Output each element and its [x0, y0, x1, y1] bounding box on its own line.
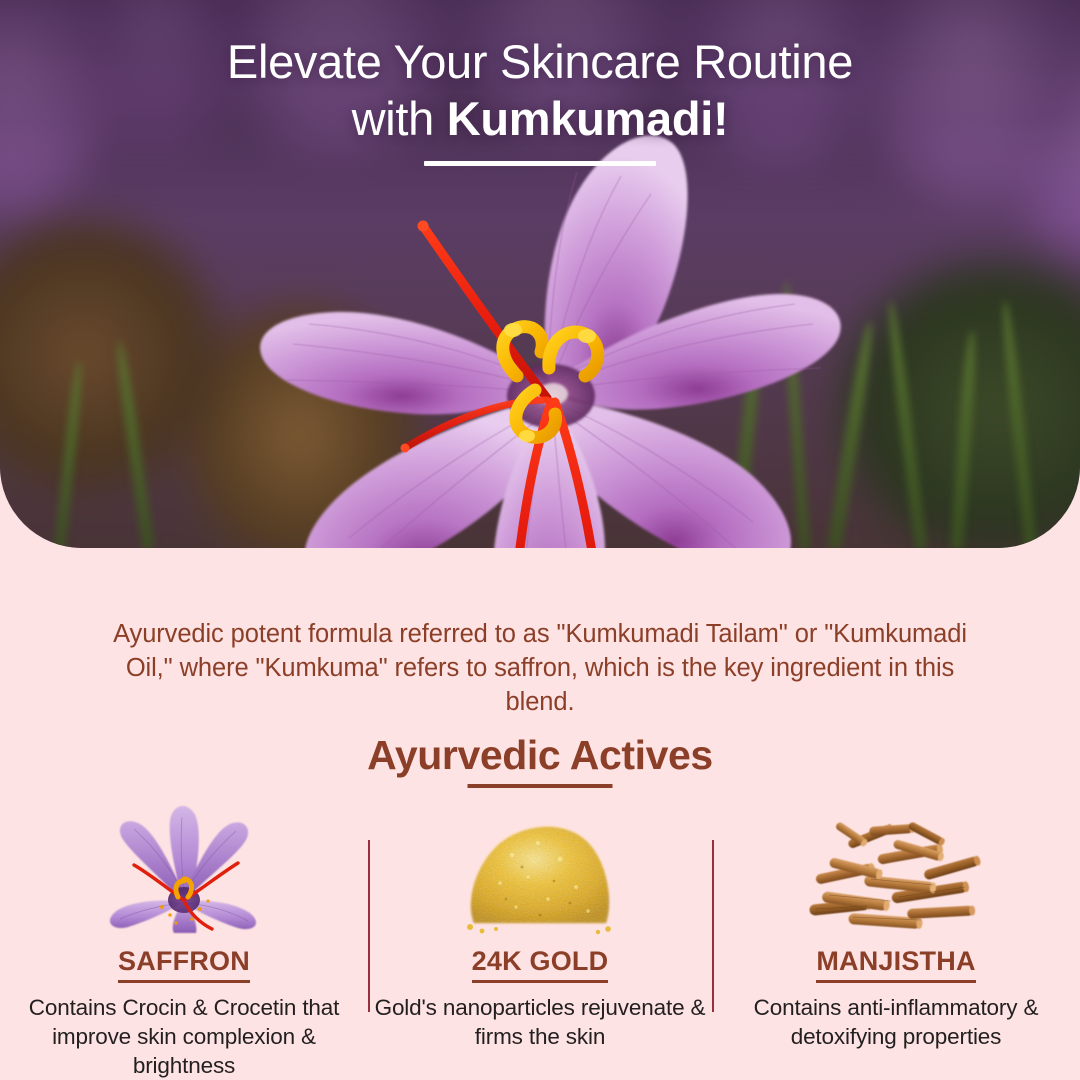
headline-prefix: with [352, 92, 447, 145]
gold-powder-icon [364, 795, 716, 935]
active-name: MANJISTHA [816, 946, 975, 983]
active-description: Contains anti-inflammatory & detoxifying… [720, 993, 1072, 1051]
saffron-flower-icon [8, 795, 360, 935]
active-card-saffron: SAFFRON Contains Crocin & Crocetin that … [8, 795, 360, 1080]
active-card-manjistha: MANJISTHA Contains anti-inflammatory & d… [720, 795, 1072, 1051]
headline-line-1: Elevate Your Skincare Routine [0, 34, 1080, 90]
active-card-gold: 24K GOLD Gold's nanoparticles rejuvenate… [364, 795, 716, 1051]
headline-line-2: with Kumkumadi! [0, 90, 1080, 148]
headline-underline [424, 161, 656, 166]
actives-row: SAFFRON Contains Crocin & Crocetin that … [0, 795, 1080, 1080]
section-title: Ayurvedic Actives [0, 732, 1080, 779]
active-description: Gold's nanoparticles rejuvenate & firms … [364, 993, 716, 1051]
section-title-underline [468, 784, 613, 788]
active-name: 24K GOLD [472, 946, 609, 983]
infographic-page: Elevate Your Skincare Routine with Kumku… [0, 0, 1080, 1080]
active-description: Contains Crocin & Crocetin that improve … [8, 993, 360, 1080]
hero-banner: Elevate Your Skincare Routine with Kumku… [0, 0, 1080, 548]
intro-paragraph: Ayurvedic potent formula referred to as … [105, 617, 975, 719]
saffron-crocus-bloom-image [247, 118, 847, 548]
manjistha-roots-icon [720, 795, 1072, 935]
hero-headline-block: Elevate Your Skincare Routine with Kumku… [0, 34, 1080, 166]
active-name: SAFFRON [118, 946, 250, 983]
headline-brand: Kumkumadi! [447, 92, 729, 145]
